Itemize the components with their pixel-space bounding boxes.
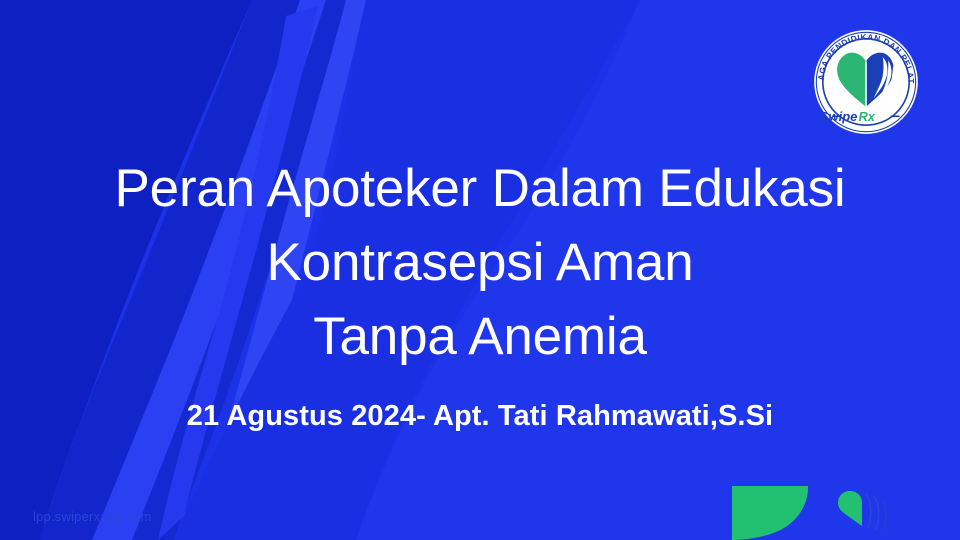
title-slide: LEMBAGA PENDIDIKAN DAN PELATIHAN Swipe R… <box>0 0 960 540</box>
seal-dash-right <box>891 115 900 117</box>
leaf-page-stroke-3 <box>882 500 886 530</box>
heart-spine <box>865 61 867 106</box>
slide-title: Peran Apoteker Dalam Edukasi Kontrasepsi… <box>0 152 960 375</box>
leaf-page-stroke-2 <box>874 496 879 530</box>
seal-wordmark: Swipe Rx <box>820 109 876 124</box>
footer-url[interactable]: lpp.swiperxapp.com <box>33 509 152 524</box>
leaf-page-stroke-1 <box>866 494 871 528</box>
teardrop-icon <box>838 491 862 526</box>
slide-subtitle: 21 Agustus 2024- Apt. Tati Rahmawati,S.S… <box>0 400 960 433</box>
leaf-large-icon <box>732 486 808 540</box>
seal-wordmark-suffix: Rx <box>858 109 875 124</box>
seal-dash-left <box>833 115 842 117</box>
swiperx-lpp-seal-logo: LEMBAGA PENDIDIKAN DAN PELATIHAN Swipe R… <box>812 28 920 136</box>
swiperx-green-leaf-mark <box>712 486 960 540</box>
